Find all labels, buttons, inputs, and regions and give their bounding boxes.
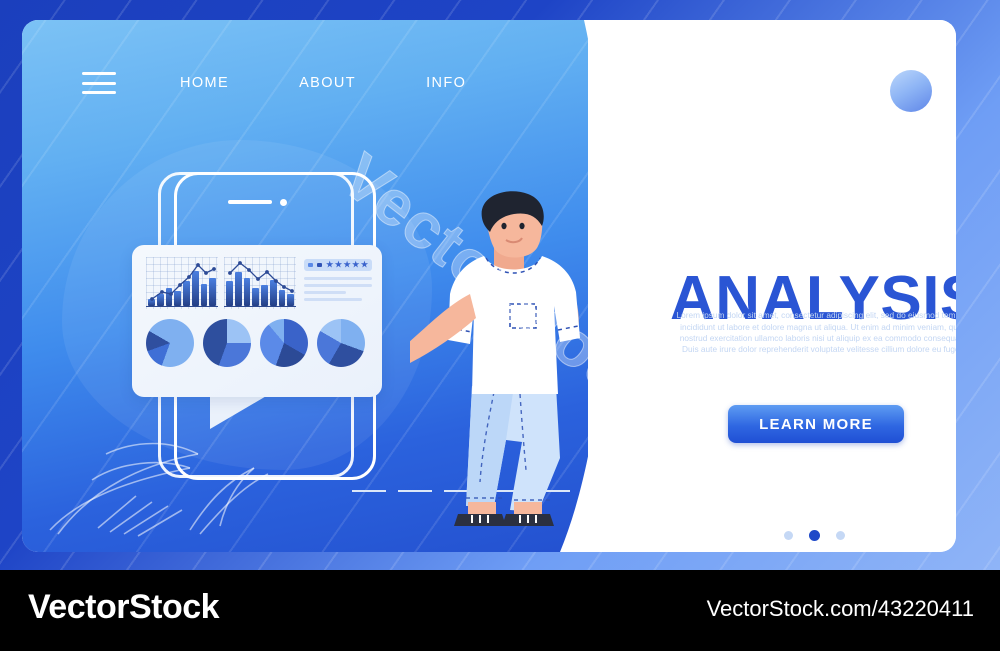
pie-chart-3 (260, 319, 308, 367)
rating-segment (317, 263, 323, 267)
footer-url: VectorStock.com/43220411 (707, 596, 974, 622)
carousel-dot-3[interactable] (836, 531, 845, 540)
rating-block: ★ ★ ★ ★ ★ (304, 259, 372, 301)
phone-camera-icon (280, 199, 287, 206)
hamburger-bar (82, 82, 116, 85)
nav-links: HOME ABOUT INFO (180, 75, 466, 91)
nav-link-home[interactable]: HOME (180, 75, 229, 91)
hero-card: ★ ★ ★ ★ ★ (22, 20, 956, 552)
top-navigation: HOME ABOUT INFO (82, 72, 466, 94)
screenshot-stage: ★ ★ ★ ★ ★ (0, 0, 1000, 651)
rating-segment (308, 263, 313, 267)
footer-bar: VectorStock VectorStock.com/43220411 (0, 570, 1000, 651)
content-panel: ANALYSIS Lorem ipsum dolor sit amet, con… (588, 20, 956, 552)
pie-chart-row (146, 319, 370, 367)
pie-chart-2 (203, 319, 251, 367)
star-icon: ★ (361, 261, 368, 269)
placeholder-text-lines (304, 277, 372, 301)
chart-axis (146, 306, 218, 308)
phone-speaker (228, 200, 272, 204)
mini-chart-right (224, 257, 296, 309)
chart-trend-line (224, 257, 296, 309)
rating-bar: ★ ★ ★ ★ ★ (304, 259, 372, 271)
nav-link-about[interactable]: ABOUT (299, 75, 356, 91)
footer-brand: VectorStock (28, 588, 219, 627)
star-icon: ★ (326, 261, 333, 269)
pie-chart-4 (317, 319, 365, 367)
speech-bubble-tail (210, 395, 268, 429)
analytics-card: ★ ★ ★ ★ ★ (132, 245, 382, 397)
nav-link-info[interactable]: INFO (426, 75, 466, 91)
pie-chart-1 (146, 319, 194, 367)
hamburger-icon[interactable] (82, 72, 116, 94)
chart-trend-line (146, 257, 218, 309)
star-rating: ★ ★ ★ ★ ★ (326, 261, 368, 269)
carousel-dot-2[interactable] (809, 530, 820, 541)
mini-chart-left (146, 257, 218, 309)
carousel-dot-1[interactable] (784, 531, 793, 540)
star-icon: ★ (343, 261, 350, 269)
hamburger-bar (82, 72, 116, 75)
hamburger-bar (82, 91, 116, 94)
carousel-dots (784, 530, 845, 541)
star-icon: ★ (352, 261, 359, 269)
body-text: Lorem ipsum dolor sit amet, consectetur … (672, 310, 956, 355)
chart-axis (224, 306, 296, 308)
decorative-circle (890, 70, 932, 112)
panel-curved-edge (526, 20, 646, 552)
star-icon: ★ (335, 261, 342, 269)
learn-more-button[interactable]: LEARN MORE (728, 405, 904, 443)
